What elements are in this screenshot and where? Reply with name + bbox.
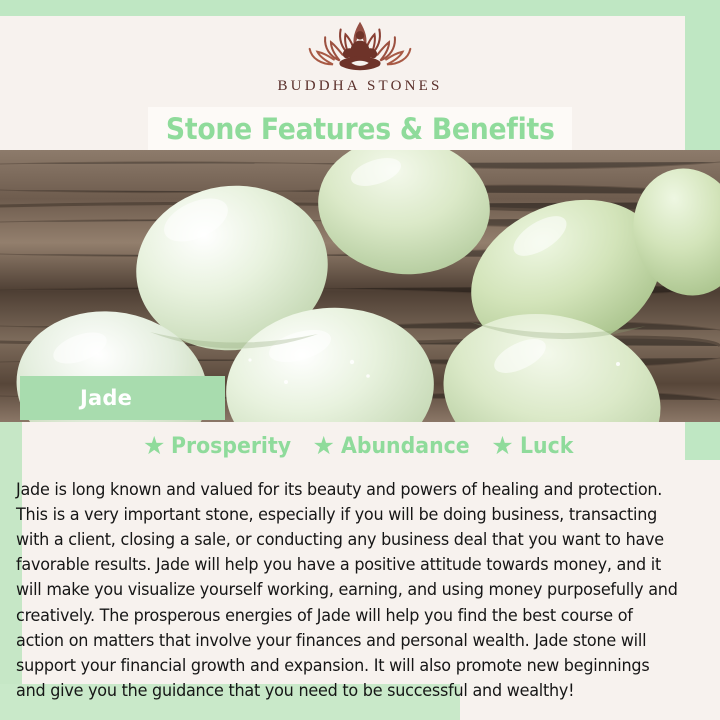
star-icon: ★ — [491, 434, 513, 459]
brand-name: BUDDHA STONES — [277, 78, 442, 95]
page-title-banner: Stone Features & Benefits — [148, 107, 572, 151]
star-icon: ★ — [313, 434, 335, 459]
benefits-row: ★ Prosperity ★ Abundance ★ Luck — [0, 430, 720, 462]
page-title: Stone Features & Benefits — [166, 112, 555, 146]
benefit-item: ★ Luck — [491, 434, 577, 459]
benefit-label: Prosperity — [171, 434, 291, 459]
stone-name-label: Jade — [80, 386, 132, 410]
stone-name-band: Jade — [20, 376, 225, 420]
brand-logo: BUDDHA STONES — [0, 16, 720, 106]
benefit-item: ★ Prosperity — [143, 434, 301, 459]
lotus-meditation-icon — [296, 16, 424, 76]
star-icon: ★ — [143, 434, 165, 459]
stone-description: Jade is long known and valued for its be… — [16, 477, 678, 704]
benefit-label: Luck — [520, 434, 573, 459]
stone-info-card: BUDDHA STONES Stone Features & Benefits — [0, 0, 720, 720]
benefit-label: Abundance — [341, 434, 470, 459]
accent-bar-top — [0, 0, 720, 17]
benefit-item: ★ Abundance — [313, 434, 480, 459]
